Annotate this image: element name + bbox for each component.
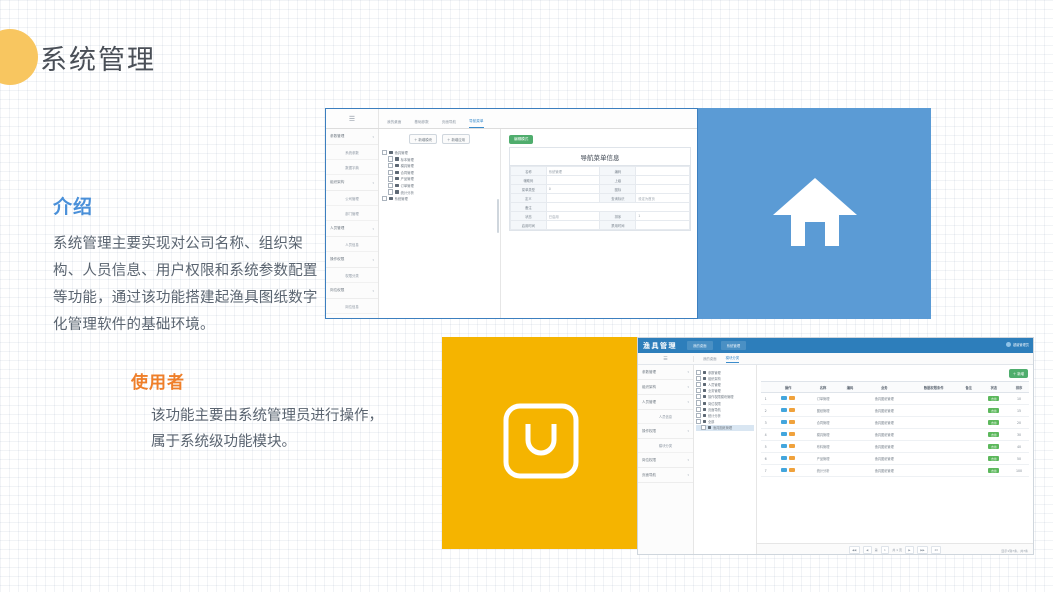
tree-toggle-icon[interactable] — [388, 163, 393, 168]
cell-biz: 渔具图纸管理 — [860, 405, 909, 417]
tree-node-5[interactable]: 订单管理 — [382, 182, 497, 189]
sidebar-group-label: 参数管理 — [642, 370, 656, 375]
sidebar-group-label: 人员管理 — [330, 226, 344, 231]
cell-remark — [959, 417, 979, 429]
form-label: 定义 — [511, 194, 547, 203]
header-tab-1[interactable]: 系统管理 — [721, 341, 747, 350]
user-name: 超级管理员 — [1013, 342, 1029, 347]
module-tree: 渔具管理标本管理模具管理合同管理产品管理订单管理统计分析系统管理 — [382, 149, 497, 202]
pagination-bar: ◀◀ ◀ 第 1 共 1 页 ▶ ▶▶ 20 显示1到7条，共7条 — [757, 543, 1033, 555]
sidebar-group-7[interactable]: 页面导航▾ — [638, 468, 693, 483]
folder-icon — [703, 371, 707, 374]
sidebar-group-6[interactable]: 岗位权限▾ — [638, 453, 693, 468]
cell-code — [840, 405, 860, 417]
page-total-label: 共 1 页 — [892, 548, 902, 552]
cell-biz: 渔具图纸管理 — [860, 441, 909, 453]
folder-icon — [395, 184, 399, 187]
table-row[interactable]: 3合同管理渔具图纸管理启用20 — [761, 417, 1029, 429]
header-tab-0[interactable]: 我的桌面 — [687, 341, 713, 350]
chevron-down-icon: ▾ — [372, 258, 374, 262]
column-header-4: 业务 — [860, 382, 909, 393]
chevron-down-icon: ▾ — [687, 385, 689, 389]
cell-biz: 渔具图纸管理 — [860, 465, 909, 477]
form-label: 启用时间 — [511, 221, 547, 230]
users-section: 使用者 该功能主要由系统管理员进行操作，属于系统级功能模块。 — [131, 368, 397, 455]
sidebar-item-7[interactable]: 人员信息 — [326, 237, 378, 252]
app-header: 渔具管理 我的桌面系统管理 超级管理员 — [638, 338, 1033, 353]
sidebar-item-5[interactable]: 模块分类 — [638, 439, 693, 453]
sidebar-item-9[interactable]: 权限分类 — [326, 268, 378, 283]
form-label: 状态 — [511, 212, 547, 221]
tree-node-label: 产品管理 — [401, 176, 414, 181]
tree-node-label: 订单管理 — [401, 183, 414, 188]
cell-sort: 10 — [1009, 393, 1029, 405]
tree-toggle-icon[interactable] — [382, 150, 387, 155]
form-caption: 导航菜单信息 — [510, 148, 690, 166]
menu-info-form: 导航菜单信息 名称系统管理编码辅助码上级菜单类型0图标定义查询标识设定为首页备注… — [509, 147, 691, 231]
tree-toggle-icon[interactable] — [696, 370, 701, 375]
tree-toolbar: ＋ 新增模块 ＋ 新增应用 — [382, 134, 497, 144]
app-topbar: ☰ 我的桌面基础参数页面导航导航菜单 — [326, 109, 697, 129]
form-row-4: 备注 — [511, 203, 690, 212]
table-row[interactable]: 6产品管理渔具图纸管理启用50 — [761, 453, 1029, 465]
form-value[interactable]: 设定为首页 — [636, 194, 690, 203]
tab-bar: 我的桌面基础参数页面导航导航菜单 — [379, 109, 484, 128]
tree-toggle-icon[interactable] — [696, 388, 701, 393]
form-label: 名称 — [511, 167, 547, 176]
form-label: 禁用时间 — [600, 221, 636, 230]
status-badge-label: 启用 — [988, 432, 999, 437]
sidebar-group-8[interactable]: 操作权限▾ — [326, 252, 378, 268]
scrollbar-thumb[interactable] — [497, 199, 499, 233]
sidebar-group-label: 操作权限 — [330, 257, 344, 262]
form-value[interactable] — [636, 167, 690, 176]
cell-biz: 渔具图纸管理 — [860, 453, 909, 465]
tree-node-label: 统计分析 — [708, 413, 721, 418]
tab-1[interactable]: 基础参数 — [414, 120, 428, 128]
row-number: 7 — [761, 465, 770, 477]
sidebar: 参数管理▾组织架构▾人员管理▾人员信息操作权限▾模块分类岗位权限▾页面导航▾ — [638, 365, 694, 555]
cell-biz: 渔具图纸管理 — [860, 393, 909, 405]
cell-name: 产品管理 — [806, 453, 840, 465]
next-page-button[interactable]: ▶ — [905, 546, 914, 554]
cell-condition — [909, 429, 959, 441]
chevron-down-icon: ▾ — [687, 400, 689, 404]
view-icon[interactable] — [781, 444, 787, 449]
cell-condition — [909, 417, 959, 429]
yellow-bag-panel — [442, 337, 639, 549]
last-page-button[interactable]: ▶▶ — [917, 546, 928, 554]
users-heading: 使用者 — [131, 368, 397, 393]
screenshot-module-category: 渔具管理 我的桌面系统管理 超级管理员 ☰ 我的桌面模块分类 参数管理▾组织架构… — [637, 337, 1034, 555]
record-total-label: 显示1到7条，共7条 — [1001, 549, 1028, 553]
sub-tab-bar: ☰ 我的桌面模块分类 — [638, 353, 1033, 365]
sidebar-group-label: 岗位权限 — [642, 458, 656, 463]
status-badge: 启用 — [979, 405, 1009, 417]
tree-toggle-icon[interactable] — [388, 156, 393, 161]
cell-name: 合同管理 — [806, 417, 840, 429]
form-row-1: 辅助码上级 — [511, 176, 690, 185]
status-badge-label: 启用 — [988, 468, 999, 473]
edit-icon[interactable] — [789, 432, 795, 437]
tree-node-label: 业务管理 — [708, 388, 721, 393]
tree-node-1[interactable]: 标本管理 — [382, 156, 497, 163]
sidebar-item-5[interactable]: 部门管理 — [326, 206, 378, 221]
tree-node-label: 页面导航 — [708, 407, 721, 412]
view-icon[interactable] — [781, 396, 787, 401]
cell-sort: 100 — [1009, 465, 1029, 477]
chevron-down-icon: ▾ — [687, 370, 689, 374]
status-badge-label: 启用 — [988, 396, 999, 401]
form-value[interactable] — [546, 194, 600, 203]
edit-mode-button[interactable]: 编辑模式 — [509, 135, 533, 144]
tree-toggle-icon[interactable] — [388, 176, 393, 181]
screenshot-navigation-menu: ☰ 我的桌面基础参数页面导航导航菜单 参数管理▾系统参数数据字典组织架构▾公司管… — [325, 108, 698, 319]
status-badge: 启用 — [979, 453, 1009, 465]
cell-biz: 渔具图纸管理 — [860, 429, 909, 441]
cell-remark — [959, 429, 979, 441]
chevron-down-icon: ▾ — [687, 429, 689, 433]
tree-node-label: 渔具管理 — [395, 150, 408, 155]
form-row-6: 启用时间禁用时间 — [511, 221, 690, 230]
sidebar-group-0[interactable]: 参数管理▾ — [638, 365, 693, 380]
form-label: 查询标识 — [600, 194, 636, 203]
sidebar-item-3[interactable]: 人员信息 — [638, 410, 693, 424]
view-icon[interactable] — [781, 408, 787, 413]
form-value[interactable] — [636, 221, 690, 230]
page-title: 系统管理 — [40, 38, 156, 77]
cell-code — [840, 417, 860, 429]
tree-node-label: 操作权限模块管理 — [708, 394, 734, 399]
intro-section: 介绍 系统管理主要实现对公司名称、组织架构、人员信息、用户权限和系统参数配置等功… — [53, 192, 325, 339]
tree-node-2[interactable]: 模具管理 — [382, 162, 497, 169]
row-number: 6 — [761, 453, 770, 465]
folder-icon — [708, 426, 712, 429]
cell-remark — [959, 465, 979, 477]
tree-node-3[interactable]: 合同管理 — [382, 169, 497, 176]
app-body: 参数管理▾系统参数数据字典组织架构▾公司管理部门管理人员管理▾人员信息操作权限▾… — [326, 129, 697, 319]
app-logo: 渔具管理 — [643, 341, 677, 351]
module-tree-panel: ＋ 新增模块 ＋ 新增应用 渔具管理标本管理模具管理合同管理产品管理订单管理统计… — [379, 129, 501, 319]
sidebar-group-label: 参数管理 — [330, 134, 344, 139]
cell-remark — [959, 453, 979, 465]
view-icon[interactable] — [781, 432, 787, 437]
tree-node-label: 模具管理 — [401, 163, 414, 168]
cell-sort: 15 — [1009, 405, 1029, 417]
form-value[interactable] — [636, 176, 690, 185]
sidebar-group-10[interactable]: 岗位权限▾ — [326, 283, 378, 299]
table-row[interactable]: 2图纸管理渔具图纸管理启用15 — [761, 405, 1029, 417]
folder-icon — [389, 151, 393, 154]
sidebar-group-12[interactable]: 页面导航▾ — [326, 314, 378, 319]
page-label: 第 — [875, 548, 878, 552]
row-number: 2 — [761, 405, 770, 417]
tree-toggle-icon[interactable] — [696, 382, 701, 387]
tree-node-4[interactable]: 产品管理 — [382, 176, 497, 183]
form-label: 辅助码 — [511, 176, 547, 185]
table-row[interactable]: 1订单管理渔具图纸管理启用10 — [761, 393, 1029, 405]
sidebar-group-4[interactable]: 操作权限▾ — [638, 424, 693, 439]
table-panel: ＋ 新增 操作名称编码业务数据权限条件备注状态排序 1订单管理渔具图纸管理启用1… — [757, 365, 1033, 555]
sidebar-group-label: 操作权限 — [642, 429, 656, 434]
form-value[interactable] — [636, 185, 690, 194]
sidebar-group-label: 人员管理 — [642, 400, 656, 405]
sidebar-item-11[interactable]: 岗位信息 — [326, 299, 378, 314]
sidebar-item-1[interactable]: 系统参数 — [326, 145, 378, 160]
folder-icon — [395, 157, 399, 160]
edit-icon[interactable] — [789, 456, 795, 461]
cell-sort: 40 — [1009, 441, 1029, 453]
edit-mode-label: 编辑模式 — [514, 137, 528, 141]
chevron-down-icon: ▾ — [372, 289, 374, 293]
tree-node-label: 人员管理 — [708, 382, 721, 387]
column-header-7: 状态 — [979, 382, 1009, 393]
sidebar: 参数管理▾系统参数数据字典组织架构▾公司管理部门管理人员管理▾人员信息操作权限▾… — [326, 129, 379, 319]
cell-sort: 50 — [1009, 453, 1029, 465]
chevron-down-icon: ▾ — [687, 458, 689, 462]
form-label: 备注 — [511, 203, 547, 212]
row-number: 3 — [761, 417, 770, 429]
cell-sort: 30 — [1009, 429, 1029, 441]
tree-node-label: 标本管理 — [401, 157, 414, 162]
intro-heading: 介绍 — [53, 192, 325, 219]
shopping-bag-icon — [502, 402, 580, 484]
page-number-input[interactable]: 1 — [881, 546, 890, 554]
add-menu-button[interactable]: ＋ 新增应用 — [442, 134, 470, 144]
sidebar-group-label: 组织架构 — [330, 180, 344, 185]
cell-condition — [909, 441, 959, 453]
tab-0[interactable]: 我的桌面 — [387, 120, 401, 128]
cell-remark — [959, 393, 979, 405]
tree-node-label: 岗位权限 — [708, 401, 721, 406]
form-table: 名称系统管理编码辅助码上级菜单类型0图标定义查询标识设定为首页备注状态已启用排序… — [510, 166, 690, 230]
cell-code — [840, 441, 860, 453]
row-actions[interactable] — [770, 465, 806, 477]
status-badge: 启用 — [979, 441, 1009, 453]
cell-remark — [959, 405, 979, 417]
cell-name: 订单管理 — [806, 393, 840, 405]
cell-condition — [909, 393, 959, 405]
sidebar-item-4[interactable]: 公司管理 — [326, 191, 378, 206]
app-body: 参数管理▾组织架构▾人员管理▾人员信息操作权限▾模块分类岗位权限▾页面导航▾ 参… — [638, 365, 1033, 555]
cell-code — [840, 429, 860, 441]
table-row[interactable]: 4模具管理渔具图纸管理启用30 — [761, 429, 1029, 441]
folder-icon — [395, 164, 399, 167]
form-label: 排序 — [600, 212, 636, 221]
form-value[interactable]: 0 — [546, 185, 600, 194]
form-value[interactable]: 1 — [636, 212, 690, 221]
view-icon[interactable] — [781, 456, 787, 461]
avatar-icon — [1006, 342, 1011, 347]
cell-name: 统计分析 — [806, 465, 840, 477]
cell-code — [840, 465, 860, 477]
cell-remark — [959, 441, 979, 453]
menu-icon[interactable]: ☰ — [326, 109, 379, 128]
form-label: 菜单类型 — [511, 185, 547, 194]
decorative-circle — [0, 29, 38, 85]
sidebar-item-2[interactable]: 数据字典 — [326, 160, 378, 175]
sub-tab-1[interactable]: 模块分类 — [726, 355, 740, 363]
column-header-6: 备注 — [959, 382, 979, 393]
tree-toggle-icon[interactable] — [696, 394, 701, 399]
tree-node-9[interactable]: 渔具图纸管理 — [696, 425, 754, 431]
sidebar-group-label: 页面导航 — [642, 473, 656, 478]
folder-icon — [395, 171, 399, 174]
edit-icon[interactable] — [789, 444, 795, 449]
chevron-down-icon: ▾ — [687, 473, 689, 477]
sub-tab-0[interactable]: 我的桌面 — [703, 356, 717, 361]
cell-condition — [909, 465, 959, 477]
tree-node-label: 全部 — [708, 419, 714, 424]
folder-icon — [703, 420, 707, 423]
blue-home-panel — [698, 108, 931, 319]
edit-icon[interactable] — [789, 468, 795, 473]
row-actions[interactable] — [770, 405, 806, 417]
tree-toggle-icon[interactable] — [696, 413, 701, 418]
sidebar-group-0[interactable]: 参数管理▾ — [326, 129, 378, 145]
tree-node-0[interactable]: 渔具管理 — [382, 149, 497, 156]
edit-icon[interactable] — [789, 408, 795, 413]
tree-node-label: 系统管理 — [395, 196, 408, 201]
tab-3[interactable]: 导航菜单 — [469, 119, 483, 128]
tree-node-label: 合同管理 — [401, 170, 414, 175]
tree-toggle-icon[interactable] — [382, 196, 387, 201]
row-actions[interactable] — [770, 417, 806, 429]
status-badge: 启用 — [979, 393, 1009, 405]
view-icon[interactable] — [781, 468, 787, 473]
table-header-row: 操作名称编码业务数据权限条件备注状态排序 — [761, 382, 1029, 393]
column-header-2: 名称 — [806, 382, 840, 393]
prev-page-button[interactable]: ◀ — [863, 546, 872, 554]
sidebar-group-6[interactable]: 人员管理▾ — [326, 221, 378, 237]
page-size-select[interactable]: 20 — [931, 546, 941, 554]
module-table: 操作名称编码业务数据权限条件备注状态排序 1订单管理渔具图纸管理启用102图纸管… — [761, 381, 1029, 477]
form-label: 上级 — [600, 176, 636, 185]
form-row-0: 名称系统管理编码 — [511, 167, 690, 176]
form-value[interactable] — [546, 221, 600, 230]
row-number: 4 — [761, 429, 770, 441]
tree-node-label: 组织架构 — [708, 376, 721, 381]
chevron-down-icon: ▾ — [372, 181, 374, 185]
folder-icon — [703, 389, 707, 392]
status-badge-label: 启用 — [988, 420, 999, 425]
intro-body: 系统管理主要实现对公司名称、组织架构、人员信息、用户权限和系统参数配置等功能，通… — [53, 231, 325, 339]
tree-toggle-icon[interactable] — [696, 400, 701, 405]
folder-icon — [703, 377, 707, 380]
folder-icon — [703, 408, 707, 411]
form-value[interactable]: 已启用 — [546, 212, 600, 221]
form-row-5: 状态已启用排序1 — [511, 212, 690, 221]
sidebar-group-label: 组织架构 — [642, 385, 656, 390]
tree-toggle-icon[interactable] — [388, 183, 393, 188]
first-page-button[interactable]: ◀◀ — [849, 546, 860, 554]
chevron-down-icon: ▾ — [372, 135, 374, 139]
tree-node-7[interactable]: 系统管理 — [382, 195, 497, 202]
cell-sort: 20 — [1009, 417, 1029, 429]
sidebar-group-3[interactable]: 组织架构▾ — [326, 175, 378, 191]
home-icon — [771, 172, 859, 256]
column-header-0 — [761, 382, 770, 393]
status-badge-label: 启用 — [988, 456, 999, 461]
column-header-1: 操作 — [770, 382, 806, 393]
edit-icon[interactable] — [789, 420, 795, 425]
tree-toggle-icon[interactable] — [388, 189, 393, 194]
users-body: 该功能主要由系统管理员进行操作，属于系统级功能模块。 — [131, 403, 397, 455]
cell-condition — [909, 405, 959, 417]
table-row[interactable]: 5布料管理渔具图纸管理启用40 — [761, 441, 1029, 453]
form-value[interactable] — [546, 176, 600, 185]
edit-icon[interactable] — [789, 396, 795, 401]
user-area[interactable]: 超级管理员 — [1006, 342, 1029, 347]
row-number: 1 — [761, 393, 770, 405]
tree-node-6[interactable]: 统计分析 — [382, 189, 497, 196]
add-module-button[interactable]: ＋ 新增模块 — [409, 134, 437, 144]
column-header-8: 排序 — [1009, 382, 1029, 393]
form-value[interactable] — [546, 203, 689, 212]
status-badge: 启用 — [979, 417, 1009, 429]
folder-icon — [389, 197, 393, 200]
folder-icon — [703, 383, 707, 386]
form-label: 图标 — [600, 185, 636, 194]
status-badge: 启用 — [979, 429, 1009, 441]
sidebar-group-2[interactable]: 人员管理▾ — [638, 395, 693, 410]
form-row-3: 定义查询标识设定为首页 — [511, 194, 690, 203]
row-actions[interactable] — [770, 429, 806, 441]
row-actions[interactable] — [770, 453, 806, 465]
detail-panel: 编辑模式 导航菜单信息 名称系统管理编码辅助码上级菜单类型0图标定义查询标识设定… — [501, 129, 697, 319]
folder-icon — [703, 395, 707, 398]
cell-name: 布料管理 — [806, 441, 840, 453]
folder-icon — [395, 190, 399, 193]
cell-name: 图纸管理 — [806, 405, 840, 417]
tree-toggle-icon[interactable] — [696, 407, 701, 412]
row-actions[interactable] — [770, 393, 806, 405]
row-actions[interactable] — [770, 441, 806, 453]
cell-name: 模具管理 — [806, 429, 840, 441]
folder-icon — [703, 402, 707, 405]
view-icon[interactable] — [781, 420, 787, 425]
header-tab-bar: 我的桌面系统管理 — [687, 341, 746, 350]
column-header-5: 数据权限条件 — [909, 382, 959, 393]
sub-tabs: 我的桌面模块分类 — [694, 355, 739, 363]
cell-code — [840, 393, 860, 405]
folder-icon — [395, 177, 399, 180]
row-number: 5 — [761, 441, 770, 453]
table-row[interactable]: 7统计分析渔具图纸管理启用100 — [761, 465, 1029, 477]
menu-icon[interactable]: ☰ — [638, 356, 694, 362]
tab-2[interactable]: 页面导航 — [442, 120, 456, 128]
tree-node-label: 参数管理 — [708, 370, 721, 375]
column-header-3: 编码 — [840, 382, 860, 393]
tree-toggle-icon[interactable] — [701, 425, 706, 430]
status-badge-label: 启用 — [988, 444, 999, 449]
status-badge: 启用 — [979, 465, 1009, 477]
cell-code — [840, 453, 860, 465]
tree-node-label: 统计分析 — [401, 190, 414, 195]
form-value[interactable]: 系统管理 — [546, 167, 600, 176]
tree-toggle-icon[interactable] — [388, 170, 393, 175]
form-row-2: 菜单类型0图标 — [511, 185, 690, 194]
status-badge-label: 启用 — [988, 408, 999, 413]
tree-toggle-icon[interactable] — [696, 376, 701, 381]
tree-toggle-icon[interactable] — [696, 419, 701, 424]
sidebar-group-label: 岗位权限 — [330, 288, 344, 293]
form-label: 编码 — [600, 167, 636, 176]
cell-biz: 渔具图纸管理 — [860, 417, 909, 429]
sidebar-group-1[interactable]: 组织架构▾ — [638, 380, 693, 395]
folder-icon — [703, 414, 707, 417]
add-button[interactable]: ＋ 新增 — [1009, 369, 1028, 378]
